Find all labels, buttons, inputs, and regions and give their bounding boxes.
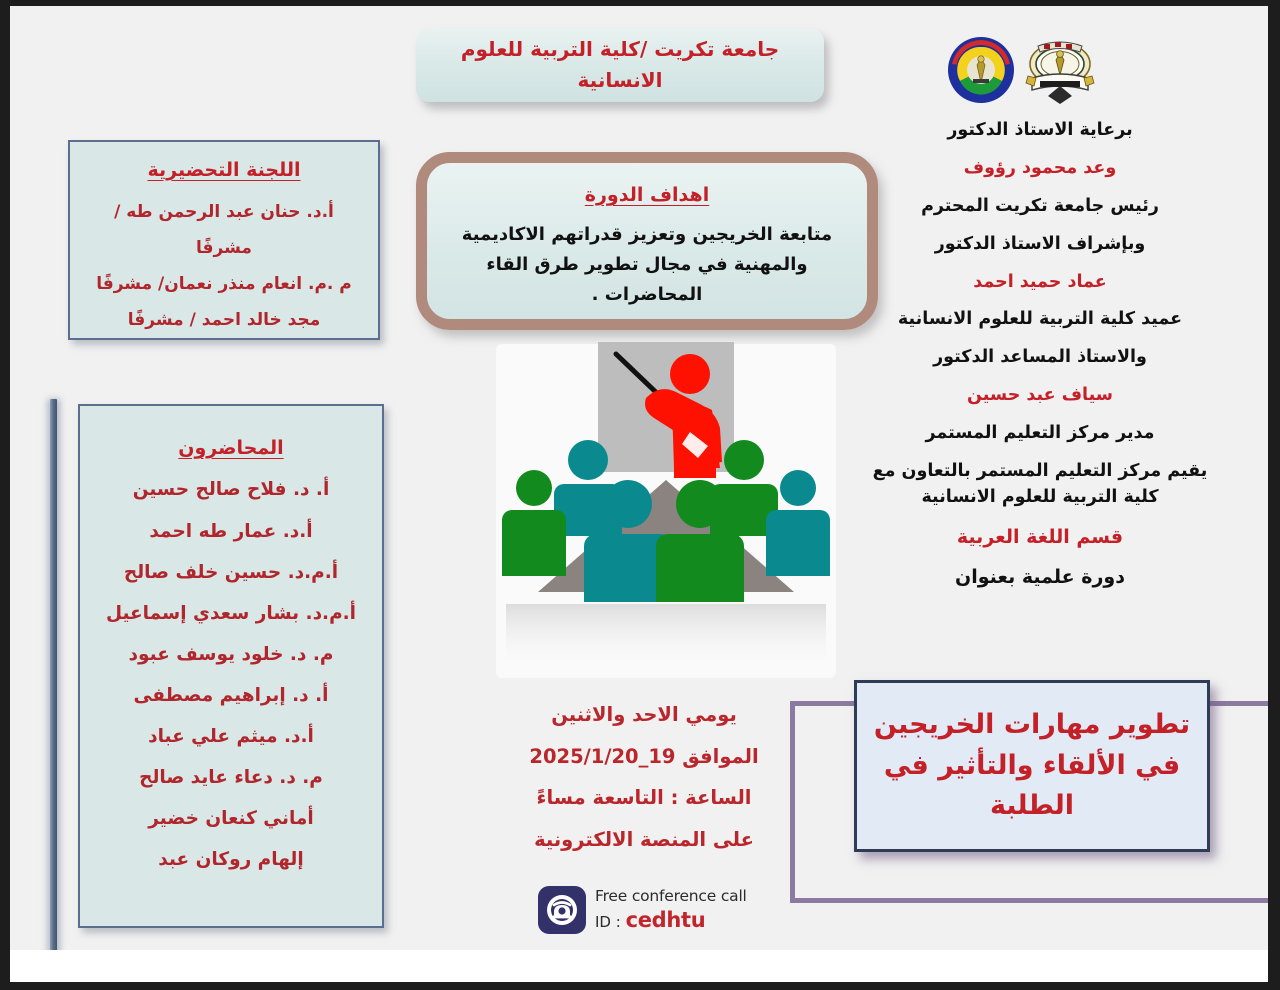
free-conference-call-block: Free conference call ID : cedhtu	[538, 886, 747, 934]
committee-member: أ.د. حنان عبد الرحمن طه / مشرفًا	[84, 195, 364, 266]
lecturer-name: م. د. دعاء عايد صالح	[96, 757, 366, 798]
conference-id-value: cedhtu	[626, 908, 706, 932]
schedule-block: يومي الاحد والاثنين الموافق 19_2025/1/20…	[510, 701, 778, 868]
committee-heading: اللجنة التحضيرية	[84, 156, 364, 185]
objectives-heading: اهداف الدورة	[451, 181, 843, 210]
course-title-line-1: تطوير مهارات الخريجين	[874, 705, 1190, 746]
bottom-white-strip	[10, 950, 1268, 982]
patronage-line: رئيس جامعة تكريت المحترم	[870, 194, 1210, 220]
schedule-line: يومي الاحد والاثنين	[510, 701, 778, 729]
lecturer-name: إلهام روكان عبد	[96, 839, 366, 880]
patronage-line: وبإشراف الاستاذ الدكتور	[870, 232, 1210, 258]
university-banner-text: جامعة تكريت /كلية التربية للعلوم الانسان…	[416, 34, 824, 96]
lecturers-heading: المحاضرون	[96, 434, 366, 463]
patronage-line: وعد محمود رؤوف	[870, 156, 1210, 182]
conference-service-name: Free conference call	[595, 888, 747, 905]
patronage-line: مدير مركز التعليم المستمر	[870, 421, 1210, 447]
schedule-line: الموافق 19_2025/1/20	[510, 743, 778, 771]
patronage-line: عماد حميد احمد	[870, 270, 1210, 296]
lecturer-name: أ. د. فلاح صالح حسين	[96, 469, 366, 510]
patronage-line: برعاية الاستاذ الدكتور	[870, 118, 1210, 144]
lecturer-name: أ.م.د. حسين خلف صالح	[96, 552, 366, 593]
lecturer-name: أ.م.د. بشار سعدي إسماعيل	[96, 593, 366, 634]
lecturer-name: م. د. خلود يوسف عبود	[96, 634, 366, 675]
committee-member: مجد خالد احمد / مشرفًا	[84, 303, 364, 339]
lecturers-box: المحاضرون أ. د. فلاح صالح حسين أ.د. عمار…	[78, 404, 384, 928]
conference-id-label: ID :	[595, 913, 621, 931]
committee-members-list: أ.د. حنان عبد الرحمن طه / مشرفًا م .م. ا…	[84, 195, 364, 338]
patronage-line: دورة علمية بعنوان	[870, 563, 1210, 591]
patronage-column: برعاية الاستاذ الدكتور وعد محمود رؤوف رئ…	[870, 118, 1210, 603]
lecturer-name: أ. د. إبراهيم مصطفى	[96, 675, 366, 716]
patronage-line: عميد كلية التربية للعلوم الانسانية	[870, 307, 1210, 333]
preparatory-committee-box: اللجنة التحضيرية أ.د. حنان عبد الرحمن طه…	[68, 140, 380, 340]
committee-member: م .م. انعام منذر نعمان/ مشرفًا	[84, 267, 364, 303]
lecturers-list: أ. د. فلاح صالح حسين أ.د. عمار طه احمد أ…	[96, 469, 366, 880]
tikrit-university-emblem	[1024, 34, 1096, 106]
telephone-icon	[538, 886, 586, 934]
patronage-line: يقيم مركز التعليم المستمر بالتعاون مع كل…	[870, 459, 1210, 511]
schedule-line: على المنصة الالكترونية	[510, 826, 778, 854]
patronage-line: سياف عبد حسين	[870, 383, 1210, 409]
schedule-line: الساعة : التاسعة مساءً	[510, 784, 778, 812]
emblem-group	[942, 32, 1100, 108]
lecturer-name: أ.د. عمار طه احمد	[96, 511, 366, 552]
iraq-ministry-emblem	[946, 35, 1016, 105]
objectives-box: اهداف الدورة متابعة الخريجين وتعزيز قدرا…	[416, 152, 878, 330]
course-title-box: تطوير مهارات الخريجين في الألقاء والتأثي…	[854, 680, 1210, 852]
objectives-body: متابعة الخريجين وتعزيز قدراتهم الاكاديمي…	[451, 220, 843, 309]
slide-surface: جامعة تكريت /كلية التربية للعلوم الانسان…	[10, 6, 1268, 982]
patronage-line: والاستاذ المساعد الدكتور	[870, 345, 1210, 371]
decorative-left-bar	[50, 399, 57, 950]
patronage-line: قسم اللغة العربية	[870, 523, 1210, 551]
lecturer-name: أ.د. ميثم علي عباد	[96, 716, 366, 757]
poster-root: جامعة تكريت /كلية التربية للعلوم الانسان…	[0, 0, 1280, 990]
university-banner-box: جامعة تكريت /كلية التربية للعلوم الانسان…	[416, 28, 824, 102]
poster-canvas: جامعة تكريت /كلية التربية للعلوم الانسان…	[10, 6, 1268, 950]
lecture-hall-illustration	[494, 342, 838, 680]
lecturer-name: أماني كنعان خضير	[96, 798, 366, 839]
course-title-line-2: في الألقاء والتأثير في الطلبة	[857, 746, 1207, 827]
